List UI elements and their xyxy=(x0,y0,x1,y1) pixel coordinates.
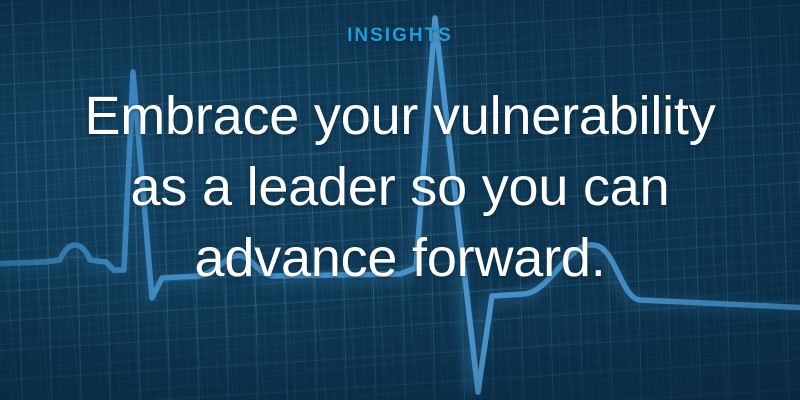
headline-line-1: Embrace your vulnerability xyxy=(20,81,780,152)
headline: Embrace your vulnerability as a leader s… xyxy=(20,81,780,294)
card-content: INSIGHTS Embrace your vulnerability as a… xyxy=(0,0,800,400)
headline-line-3: advance forward. xyxy=(20,223,780,294)
eyebrow-label: INSIGHTS xyxy=(347,26,453,45)
insights-quote-card: INSIGHTS Embrace your vulnerability as a… xyxy=(0,0,800,400)
headline-line-2: as a leader so you can xyxy=(20,152,780,223)
